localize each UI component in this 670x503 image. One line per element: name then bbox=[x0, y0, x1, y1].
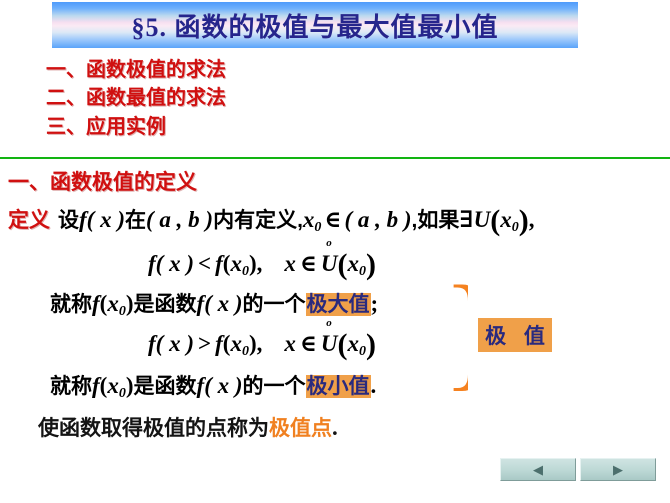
conclusion-lead: 使函数取得极值的点称为 bbox=[38, 417, 269, 440]
exists-symbol: ∃ bbox=[459, 207, 473, 232]
text-in-1: 在 bbox=[125, 209, 146, 232]
fmin-rhs-x: x bbox=[230, 331, 242, 356]
fmax-var-x: x bbox=[284, 251, 296, 276]
Umax-close: ) bbox=[366, 248, 376, 281]
Umax-x: x bbox=[348, 251, 360, 276]
outline-list: 一、函数极值的求法 二、函数最值的求法 三、应用实例 bbox=[46, 56, 446, 141]
Umin-sub: 0 bbox=[359, 344, 366, 359]
function-f-1: f bbox=[79, 207, 87, 232]
highlight-extremum-point: 极值点 bbox=[269, 417, 332, 440]
fmax-lhs-arg: ( x ) bbox=[156, 251, 194, 276]
text-has-definition: 内有定义, bbox=[213, 209, 303, 232]
fmin-var-x: x bbox=[284, 331, 296, 356]
U-arg-x-1: x bbox=[500, 207, 512, 232]
fmax-comma: , bbox=[257, 251, 263, 276]
interval-ab-1: ( a , b ) bbox=[146, 207, 213, 232]
U-arg-sub-1: 0 bbox=[512, 220, 519, 235]
fmin-lhs-arg: ( x ) bbox=[156, 331, 194, 356]
previous-slide-button[interactable]: ◀ bbox=[500, 458, 576, 481]
smin-tail: . bbox=[371, 373, 377, 398]
fmin-relation: > bbox=[198, 331, 211, 356]
point-x0: x bbox=[303, 207, 315, 232]
smax-arg2: ( x ) bbox=[204, 291, 242, 316]
outline-item-3: 三、应用实例 bbox=[46, 113, 446, 141]
page-title: §5. 函数的极值与最大值最小值 bbox=[131, 7, 498, 44]
sentence-extremum-point: 使函数取得极值的点称为极值点. bbox=[38, 412, 338, 442]
deleted-neighbourhood-U-min: oU bbox=[321, 331, 338, 357]
smax-tail: ; bbox=[371, 291, 379, 316]
line1-comma: , bbox=[529, 207, 535, 232]
section-heading: 一、函数极值的定义 bbox=[8, 166, 197, 196]
definition-line-1: 定义设f( x )在( a , b )内有定义,x0∈( a , b ),如果∃… bbox=[8, 204, 535, 238]
fmax-lhs-f: f bbox=[148, 251, 156, 276]
smax-close: ) bbox=[126, 291, 134, 316]
Umin-close: ) bbox=[366, 328, 376, 361]
green-divider bbox=[0, 157, 670, 159]
outline-item-1: 一、函数极值的求法 bbox=[46, 56, 446, 84]
fmax-relation: < bbox=[198, 251, 211, 276]
smin-x: x bbox=[107, 373, 119, 398]
Umax-sub: 0 bbox=[359, 264, 366, 279]
text-if: ,如果 bbox=[412, 209, 460, 232]
fmax-rhs-f: f bbox=[215, 251, 223, 276]
U-close-paren-1: ) bbox=[519, 204, 529, 237]
smin-f: f bbox=[92, 373, 100, 398]
formula-minimum: f( x )>f(x0),x∈oU(x0) bbox=[148, 328, 376, 362]
smax-lead: 就称 bbox=[50, 293, 92, 316]
fmin-member: ∈ bbox=[300, 331, 317, 356]
ring-accent-max: o bbox=[326, 238, 332, 249]
Umax-open: ( bbox=[338, 248, 348, 281]
sentence-minimum: 就称f(x0)是函数f( x )的一个极小值. bbox=[50, 370, 376, 402]
smin-sub: 0 bbox=[119, 386, 126, 401]
interval-ab-2: ( a , b ) bbox=[344, 207, 411, 232]
definition-prefix: 设 bbox=[58, 209, 79, 232]
slide-title-banner: §5. 函数的极值与最大值最小值 bbox=[52, 2, 578, 48]
neighbourhood-U-1: U bbox=[474, 207, 491, 232]
U-letter-min: U bbox=[321, 331, 338, 356]
outline-item-2: 二、函数最值的求法 bbox=[46, 84, 446, 112]
Umin-open: ( bbox=[338, 328, 348, 361]
fmin-rhs-close: ) bbox=[249, 331, 257, 356]
extremum-label-box: 极 值 bbox=[478, 318, 552, 352]
extremum-label-text: 极 值 bbox=[479, 320, 551, 350]
smax-sub: 0 bbox=[119, 304, 126, 319]
smin-close: ) bbox=[126, 373, 134, 398]
smin-lead: 就称 bbox=[50, 375, 92, 398]
fmax-rhs-sub: 0 bbox=[242, 264, 249, 279]
smin-mid2: 的一个 bbox=[243, 375, 306, 398]
ring-accent-min: o bbox=[326, 318, 332, 329]
point-x0-subscript: 0 bbox=[314, 220, 321, 235]
fmin-comma: , bbox=[257, 331, 263, 356]
grouping-brace: } bbox=[442, 282, 468, 394]
sentence-maximum: 就称f(x0)是函数f( x )的一个极大值; bbox=[50, 288, 378, 320]
definition-label: 定义 bbox=[8, 209, 50, 232]
U-letter-max: U bbox=[321, 251, 338, 276]
highlight-local-maximum: 极大值 bbox=[306, 293, 371, 316]
member-symbol-1: ∈ bbox=[324, 207, 341, 232]
Umin-x: x bbox=[348, 331, 360, 356]
fmax-rhs-x: x bbox=[230, 251, 242, 276]
smax-mid: 是函数 bbox=[134, 293, 197, 316]
left-arrow-icon: ◀ bbox=[533, 463, 543, 476]
highlight-local-minimum: 极小值 bbox=[306, 375, 371, 398]
fmin-rhs-sub: 0 bbox=[242, 344, 249, 359]
smax-mid2: 的一个 bbox=[243, 293, 306, 316]
smin-arg2: ( x ) bbox=[204, 373, 242, 398]
formula-maximum: f( x )<f(x0),x∈oU(x0) bbox=[148, 248, 376, 282]
smax-f: f bbox=[92, 291, 100, 316]
fmin-lhs-f: f bbox=[148, 331, 156, 356]
U-open-paren-1: ( bbox=[490, 204, 500, 237]
right-arrow-icon: ▶ bbox=[613, 463, 623, 476]
smin-mid: 是函数 bbox=[134, 375, 197, 398]
conclusion-tail: . bbox=[332, 415, 338, 440]
next-slide-button[interactable]: ▶ bbox=[580, 458, 656, 481]
deleted-neighbourhood-U-max: oU bbox=[321, 251, 338, 277]
fmax-rhs-close: ) bbox=[249, 251, 257, 276]
fmax-member: ∈ bbox=[300, 251, 317, 276]
fmin-rhs-f: f bbox=[215, 331, 223, 356]
smax-x: x bbox=[107, 291, 119, 316]
function-arg-1: ( x ) bbox=[87, 207, 125, 232]
